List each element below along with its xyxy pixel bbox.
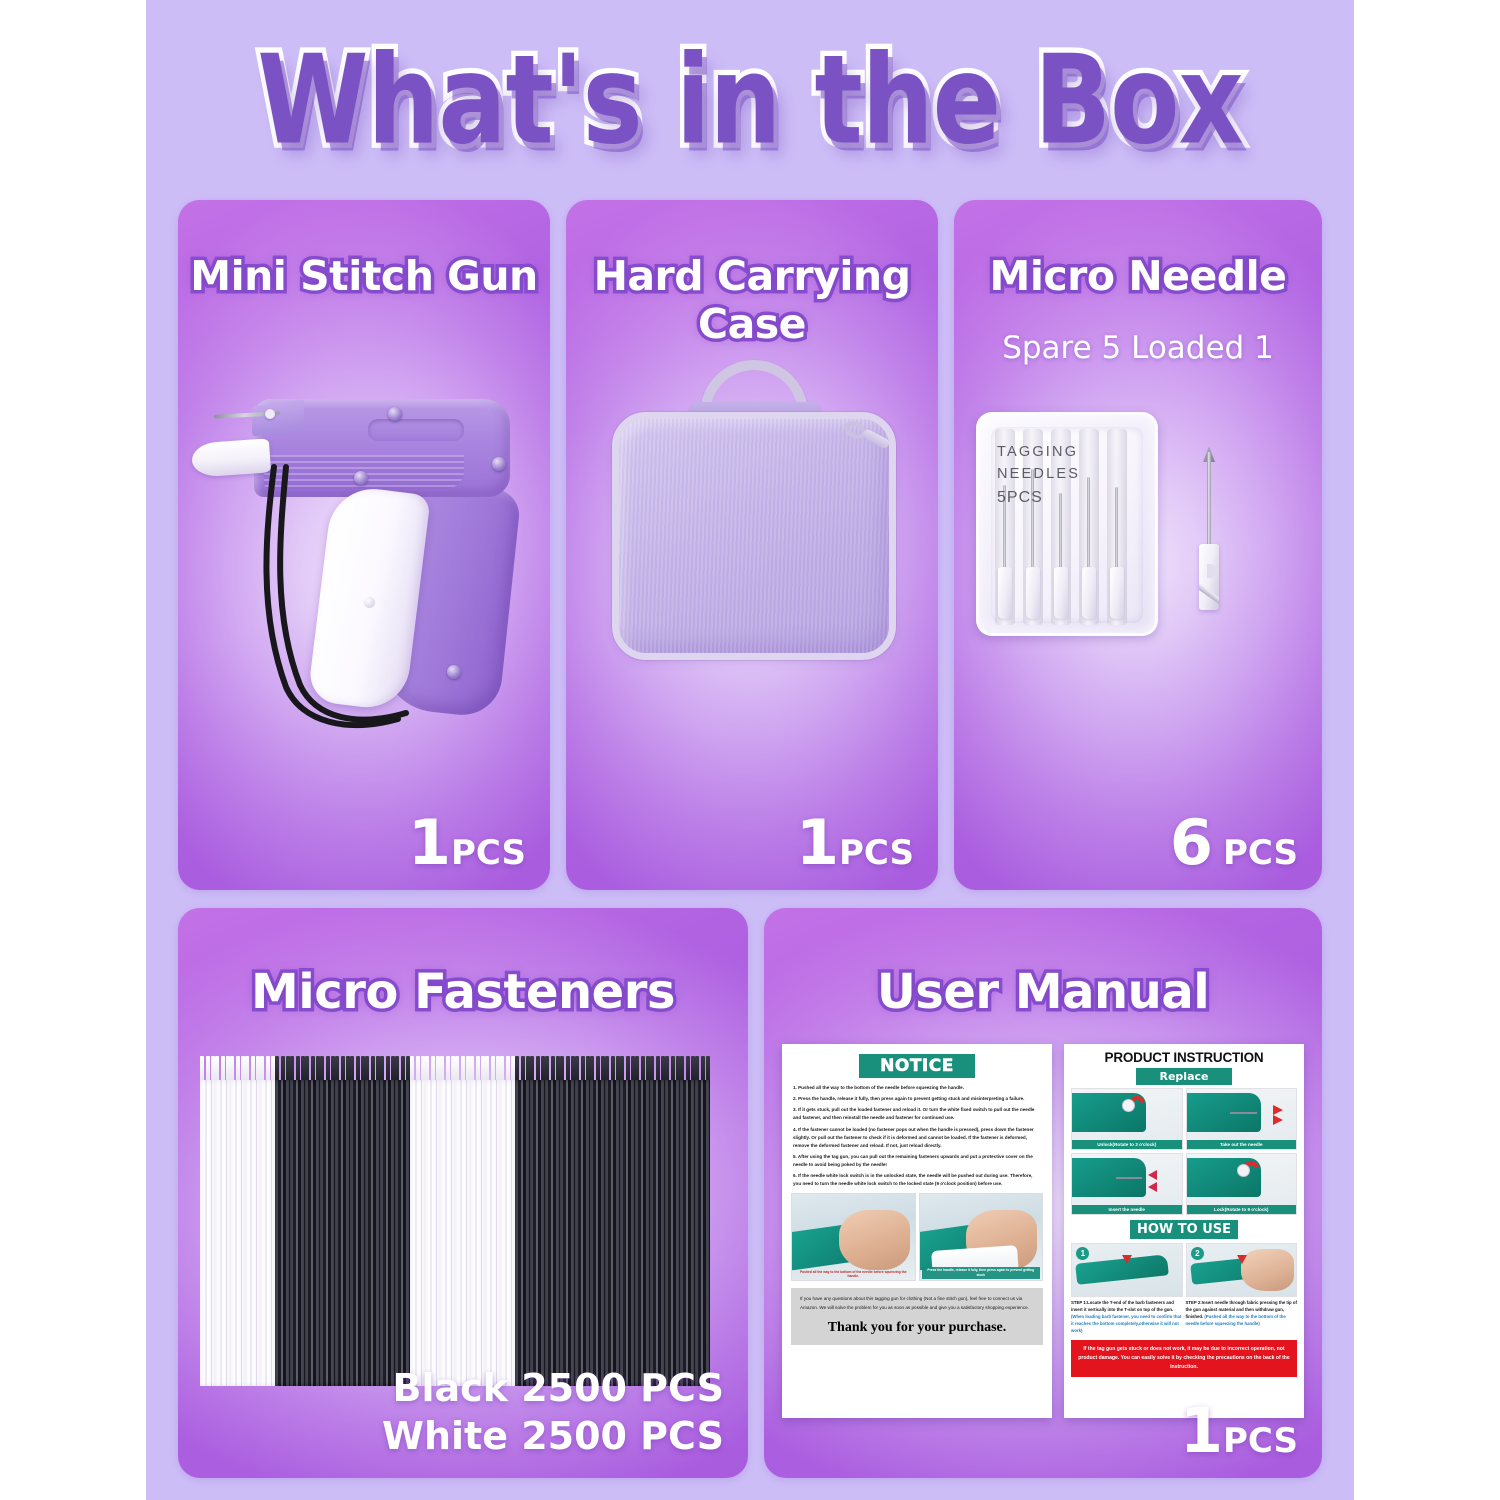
fastener-bar [500,1080,515,1386]
fastener-strip-white [455,1056,470,1386]
fastener-bar [560,1080,575,1386]
fastener-tooth [641,1056,645,1082]
fastener-tooth [305,1056,309,1082]
cell-caption: Unlock(Rotate to 3 o'clock) [1072,1140,1182,1149]
fastener-strip-black [620,1056,635,1386]
instruction-cell: Insert the needle [1071,1153,1183,1215]
fastener-tooth [626,1056,630,1082]
fastener-bar [335,1080,350,1386]
fastener-tooth [560,1056,564,1082]
step-image: 1 [1071,1243,1183,1297]
fastener-strip-black [305,1056,320,1386]
fastener-strip-white [440,1056,455,1386]
fastener-strip-black [395,1056,410,1386]
fastener-strip-white [230,1056,245,1386]
instruction-cell: Lock(Rotate to 9 o'clock) [1186,1153,1298,1215]
fastener-bar [515,1080,530,1386]
fastener-bar [410,1080,425,1386]
fastener-bar [530,1080,545,1386]
fastener-tooth [551,1056,555,1082]
fastener-bar [245,1080,260,1386]
fastener-teeth [320,1056,335,1082]
notice-item: 3. If it gets stuck, pull out the loaded… [793,1106,1041,1122]
fastener-strip-white [215,1056,230,1386]
fastener-teeth [440,1056,455,1082]
fastener-tooth [275,1056,279,1082]
fastener-bar [470,1080,485,1386]
fastener-tooth [281,1056,285,1082]
fastener-tooth [395,1056,399,1082]
gun-lanyard [228,461,418,731]
needle-pack-label: TAGGING NEEDLES 5PCS [997,441,1080,511]
card-title-micro-needle: Micro Needle [954,252,1322,300]
needle-barb [998,567,1012,619]
instruction-cell: Take out the needle [1186,1088,1298,1150]
fastener-teeth [425,1056,440,1082]
fastener-teeth [650,1056,665,1082]
manual-page-instruction: PRODUCT INSTRUCTION Replace Needle Unloc… [1064,1044,1304,1418]
fastener-tooth [206,1056,210,1082]
quantity-micro-needle: 6 PCS [1170,812,1298,874]
fastener-tooth [476,1056,480,1082]
fastener-strip-white [470,1056,485,1386]
fastener-strip-black [665,1056,680,1386]
fastener-tooth [590,1056,594,1082]
step-text-main: STEP 1:Locate the T-end of the barb fast… [1071,1300,1174,1312]
quantity-white: White 2500 PCS [382,1413,724,1461]
lock-knob [1237,1164,1250,1177]
fastener-tooth [581,1056,585,1082]
quantity-number: 1 [796,812,839,874]
fastener-bar [230,1080,245,1386]
fastener-teeth [230,1056,245,1082]
fastener-tooth [365,1056,369,1082]
fastener-tooth [335,1056,339,1082]
fastener-strip-black [515,1056,530,1386]
fastener-tooth [230,1056,234,1082]
manual-page-notice: NOTICE 1. Pushed all the way to the bott… [782,1044,1052,1418]
loose-needle-shaft [1207,452,1211,550]
fastener-tooth [706,1056,710,1082]
gun-body-slot [368,419,464,441]
fastener-tooth [221,1056,225,1082]
fastener-strip-white [500,1056,515,1386]
quantity-mini-stitch-gun: 1 PCS [408,812,526,874]
fastener-bar [695,1080,710,1386]
notice-item: 4. If the fastener cannot be loaded (no … [793,1126,1041,1150]
fastener-tooth [401,1056,405,1082]
fastener-strip-black [335,1056,350,1386]
arrow-down-icon [1237,1255,1247,1264]
fastener-teeth [275,1056,290,1082]
fastener-tooth [566,1056,570,1082]
fastener-bar [200,1080,215,1386]
fastener-teeth [575,1056,590,1082]
quantity-number: 1 [1180,1400,1223,1462]
gun-needle-lock [265,409,275,419]
step-text: STEP 2:Insert needle through fabric pres… [1186,1300,1298,1328]
needle-barb [1110,567,1124,619]
arrow-right-icon [1273,1105,1283,1115]
fastener-teeth [245,1056,260,1082]
card-hard-carrying-case: Hard Carrying Case 1 PCS [566,200,938,890]
card-user-manual: User Manual NOTICE 1. Pushed all the way… [764,908,1322,1478]
fastener-tooth [680,1056,684,1082]
fastener-bar [275,1080,290,1386]
card-title-user-manual: User Manual [764,964,1322,1020]
notice-item: 6. If the needle white lock switch is in… [793,1172,1041,1188]
step-hand [1241,1249,1294,1291]
quantity-black: Black 2500 PCS [382,1365,724,1413]
fastener-tooth [536,1056,540,1082]
lock-knob [1122,1099,1135,1112]
photo-caption: Press the handle, release it fully, then… [922,1267,1040,1279]
fastener-teeth [215,1056,230,1082]
fastener-bar [680,1080,695,1386]
fastener-tooth [440,1056,444,1082]
fastener-strip-black [275,1056,290,1386]
fastener-bar [635,1080,650,1386]
fastener-bar [365,1080,380,1386]
needle-shaft [1087,477,1090,569]
fastener-bar [620,1080,635,1386]
replace-needle-badge: Replace Needle [1136,1068,1232,1085]
fastener-strip-black [605,1056,620,1386]
fastener-bar [215,1080,230,1386]
step-number: 2 [1191,1247,1204,1260]
fastener-strip-black [380,1056,395,1386]
replace-needle-grid: Unlock(Rotate to 3 o'clock) Take out the… [1071,1088,1297,1215]
fastener-bar [590,1080,605,1386]
fastener-tooth [296,1056,300,1082]
tag-gun-illustration [192,385,536,805]
fastener-teeth [485,1056,500,1082]
fastener-strip-black [350,1056,365,1386]
fastener-tooth [620,1056,624,1082]
notice-item: 2. Press the handle, release it fully, t… [793,1095,1041,1103]
how-to-use-badge: HOW TO USE [1130,1220,1238,1239]
needle-barb [1054,567,1068,619]
cell-caption: Insert the needle [1072,1205,1182,1214]
fastener-teeth [560,1056,575,1082]
fastener-bar [545,1080,560,1386]
step-image: 2 [1186,1243,1298,1297]
notice-photo: Pushed all the way to the bottom of the … [791,1193,916,1281]
footer-text: If you have any questions about this tag… [800,1295,1034,1313]
quantity-number: 6 [1170,812,1213,874]
fastener-bar [440,1080,455,1386]
quantity-user-manual: 1 PCS [1180,1400,1298,1462]
fastener-teeth [200,1056,215,1082]
notice-item: 1. Pushed all the way to the bottom of t… [793,1084,1041,1092]
fastener-tooth [341,1056,345,1082]
fastener-tooth [695,1056,699,1082]
fastener-tooth [431,1056,435,1082]
fastener-strip-black [545,1056,560,1386]
card-micro-needle: Micro Needle Spare 5 Loaded 1 [954,200,1322,890]
arrow-right-icon [1273,1115,1283,1125]
fastener-teeth [335,1056,350,1082]
fastener-teeth [620,1056,635,1082]
fastener-bar [605,1080,620,1386]
fastener-strip-white [425,1056,440,1386]
page-title-container: What's in the Box [146,28,1354,150]
fastener-tooth [461,1056,465,1082]
infographic-page: What's in the Box Mini Stitch Gun [146,0,1354,1500]
fastener-teeth [455,1056,470,1082]
fastener-strip-black [290,1056,305,1386]
photo-caption: Pushed all the way to the bottom of the … [794,1270,912,1279]
fastener-strip-black [560,1056,575,1386]
cell-needle [1116,1177,1142,1179]
cell-caption: Take out the needle [1187,1140,1297,1149]
fastener-tooth [251,1056,255,1082]
needle-blister-pack: TAGGING NEEDLES 5PCS [976,412,1158,636]
fastener-tooth [521,1056,525,1082]
gun-screw [388,407,402,421]
fastener-tooth [485,1056,489,1082]
needle-barb [1026,567,1040,619]
arrow-left-icon [1148,1170,1157,1180]
fastener-teeth [515,1056,530,1082]
fastener-tooth [491,1056,495,1082]
fastener-bar [650,1080,665,1386]
fastener-teeth [635,1056,650,1082]
fastener-tooth [266,1056,270,1082]
fastener-bar [305,1080,320,1386]
quantity-unit: PCS [1223,836,1298,870]
user-manual-illustration: NOTICE 1. Pushed all the way to the bott… [782,1044,1304,1418]
fastener-tooth [650,1056,654,1082]
step: 2 STEP 2:Insert needle through fabric pr… [1186,1243,1298,1334]
fastener-tooth [701,1056,705,1082]
how-to-use-steps: 1 STEP 1:Locate the T-end of the barb fa… [1071,1243,1297,1334]
quantity-unit: PCS [1223,1424,1298,1458]
fastener-tooth [260,1056,264,1082]
fastener-strip-black [320,1056,335,1386]
loose-needle-bevel [1199,580,1219,610]
quantity-number: 1 [408,812,451,874]
fastener-strip-black [695,1056,710,1386]
card-micro-fasteners: Micro Fasteners Black 2500 PCS White 250… [178,908,748,1478]
fastener-strip-black [650,1056,665,1386]
photo-hand [839,1210,910,1270]
fastener-bar [260,1080,275,1386]
fastener-tooth [311,1056,315,1082]
fastener-tooth [371,1056,375,1082]
fastener-bar [665,1080,680,1386]
fasteners-illustration [200,1056,726,1386]
step: 1 STEP 1:Locate the T-end of the barb fa… [1071,1243,1183,1334]
fastener-strip-white [200,1056,215,1386]
fastener-bar [350,1080,365,1386]
quantity-unit: PCS [839,836,914,870]
fastener-bar [320,1080,335,1386]
fastener-tooth [200,1056,204,1082]
carrying-case-illustration [608,360,900,680]
arrow-down-icon [1122,1255,1132,1264]
fastener-tooth [545,1056,549,1082]
fastener-tooth [215,1056,219,1082]
fastener-teeth [530,1056,545,1082]
arrow-left-icon [1148,1182,1157,1192]
fastener-bar [425,1080,440,1386]
fastener-teeth [500,1056,515,1082]
fastener-bar [485,1080,500,1386]
fastener-tooth [635,1056,639,1082]
fastener-tooth [416,1056,420,1082]
notice-photo-row: Pushed all the way to the bottom of the … [791,1193,1043,1281]
fastener-tooth [665,1056,669,1082]
fastener-tooth [611,1056,615,1082]
fastener-tooth [380,1056,384,1082]
fastener-strip-white [245,1056,260,1386]
card-mini-stitch-gun: Mini Stitch Gun [178,200,550,890]
needle-barb [1082,567,1096,619]
fastener-strip-black [635,1056,650,1386]
fastener-tooth [671,1056,675,1082]
fastener-teeth [290,1056,305,1082]
fastener-tooth [350,1056,354,1082]
card-title-micro-fasteners: Micro Fasteners [178,964,748,1020]
manual-footer: If you have any questions about this tag… [791,1288,1043,1345]
fastener-teeth [695,1056,710,1082]
step-text-note: (When loading barb fastener, you need to… [1071,1314,1181,1333]
fastener-strip-black [365,1056,380,1386]
notice-list: 1. Pushed all the way to the bottom of t… [791,1084,1043,1188]
cell-needle [1230,1112,1256,1114]
fastener-teeth [395,1056,410,1082]
fastener-bar [575,1080,590,1386]
instruction-heading: PRODUCT INSTRUCTION [1071,1050,1297,1065]
fastener-tooth [470,1056,474,1082]
fastener-teeth [260,1056,275,1082]
fastener-strip-white [260,1056,275,1386]
fastener-tooth [656,1056,660,1082]
fastener-teeth [665,1056,680,1082]
fastener-teeth [365,1056,380,1082]
warning-banner: If the tag gun gets stuck or does not wo… [1071,1340,1297,1377]
fastener-tooth [386,1056,390,1082]
needle-pack-illustration: TAGGING NEEDLES 5PCS [972,408,1302,668]
fastener-tooth [410,1056,414,1082]
fastener-teeth [680,1056,695,1082]
needle-shaft [1115,487,1118,569]
fastener-teeth [410,1056,425,1082]
quantity-hard-carrying-case: 1 PCS [796,812,914,874]
fastener-strip-black [680,1056,695,1386]
fastener-strip-black [575,1056,590,1386]
fastener-tooth [506,1056,510,1082]
quantity-unit: PCS [451,836,526,870]
notice-photo: Press the handle, release it fully, then… [919,1193,1044,1281]
notice-item: 5. After using the tag gun, you can pull… [793,1153,1041,1169]
fastener-teeth [470,1056,485,1082]
fastener-teeth [605,1056,620,1082]
pack-label-line-2: NEEDLES [997,463,1080,485]
fastener-teeth [380,1056,395,1082]
fastener-bar [455,1080,470,1386]
fastener-teeth [350,1056,365,1082]
notice-badge: NOTICE [859,1054,975,1078]
fastener-tooth [446,1056,450,1082]
fastener-teeth [590,1056,605,1082]
fastener-tooth [326,1056,330,1082]
fastener-bar [395,1080,410,1386]
fastener-tooth [290,1056,294,1082]
case-zipper [612,412,896,660]
thank-you-text: Thank you for your purchase. [800,1320,1034,1336]
fastener-tooth [320,1056,324,1082]
fastener-tooth [596,1056,600,1082]
step-text: STEP 1:Locate the T-end of the barb fast… [1071,1300,1183,1334]
pack-label-line-3: 5PCS [997,486,1080,511]
fastener-tooth [530,1056,534,1082]
fastener-tooth [245,1056,249,1082]
needle-subtitle: Spare 5 Loaded 1 [954,330,1322,366]
pack-label-line-1: TAGGING [997,441,1080,463]
gun-screw [447,665,461,679]
fastener-teeth [305,1056,320,1082]
fastener-tooth [455,1056,459,1082]
fastener-bar [380,1080,395,1386]
fastener-teeth [545,1056,560,1082]
page-title: What's in the Box [257,28,1242,172]
step-number: 1 [1076,1247,1089,1260]
fastener-strip-black [590,1056,605,1386]
instruction-cell: Unlock(Rotate to 3 o'clock) [1071,1088,1183,1150]
card-title-hard-carrying-case: Hard Carrying Case [566,252,938,348]
fastener-tooth [236,1056,240,1082]
fastener-strip-black [530,1056,545,1386]
card-title-mini-stitch-gun: Mini Stitch Gun [178,252,550,300]
fastener-tooth [605,1056,609,1082]
fastener-strip-white [485,1056,500,1386]
quantity-micro-fasteners: Black 2500 PCS White 2500 PCS [382,1365,724,1460]
fastener-tooth [425,1056,429,1082]
cell-caption: Lock(Rotate to 9 o'clock) [1187,1205,1297,1214]
fastener-tooth [575,1056,579,1082]
gun-screw [492,457,506,471]
fastener-tooth [356,1056,360,1082]
fastener-tooth [500,1056,504,1082]
fastener-bar [290,1080,305,1386]
fastener-tooth [515,1056,519,1082]
fastener-tooth [686,1056,690,1082]
fastener-strip-white [410,1056,425,1386]
loose-needle [1194,452,1224,612]
